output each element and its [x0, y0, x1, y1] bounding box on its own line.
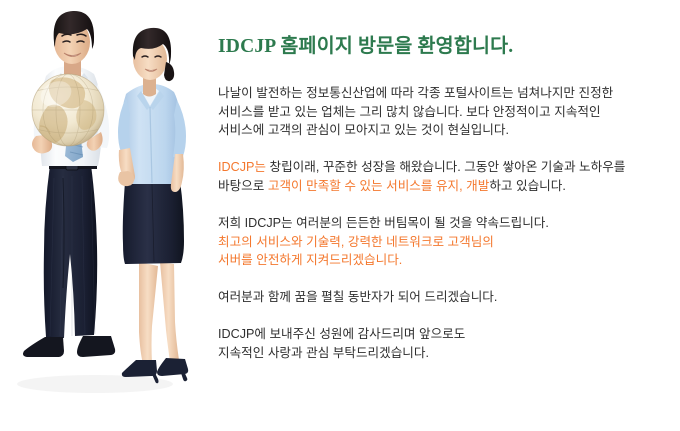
text-line: 서비스에 고객의 관심이 모아지고 있는 것이 현실입니다.: [218, 121, 678, 140]
body-text: IDCJP에 보내주신 성원에 감사드리며 앞으로도: [218, 327, 465, 341]
body-text: 바탕으로: [218, 179, 268, 193]
body-text: 여러분과 함께 꿈을 펼칠 동반자가 되어 드리겠습니다.: [218, 290, 497, 304]
text-line: 여러분과 함께 꿈을 펼칠 동반자가 되어 드리겠습니다.: [218, 288, 678, 307]
text-line: IDCJP는 창립이래, 꾸준한 성장을 해왔습니다. 그동안 쌓아온 기술과 …: [218, 158, 678, 177]
text-line: 나날이 발전하는 정보통신산업에 따라 각종 포털사이트는 넘쳐나지만 진정한: [218, 84, 678, 103]
text-line: IDCJP에 보내주신 성원에 감사드리며 앞으로도: [218, 325, 678, 344]
paragraph-3: 저희 IDCJP는 여러분의 든든한 버팀목이 될 것을 약속드립니다.최고의 …: [218, 214, 678, 270]
body-text: 지속적인 사랑과 관심 부탁드리겠습니다.: [218, 346, 429, 360]
text-line: 저희 IDCJP는 여러분의 든든한 버팀목이 될 것을 약속드립니다.: [218, 214, 678, 233]
body-text: 창립이래, 꾸준한 성장을 해왔습니다. 그동안 쌓아온 기술과 노하우를: [266, 160, 625, 174]
text-line: 지속적인 사랑과 관심 부탁드리겠습니다.: [218, 344, 678, 363]
highlighted-text: IDCJP는: [218, 160, 266, 174]
paragraph-5: IDCJP에 보내주신 성원에 감사드리며 앞으로도지속적인 사랑과 관심 부탁…: [218, 325, 678, 362]
paragraph-2: IDCJP는 창립이래, 꾸준한 성장을 해왔습니다. 그동안 쌓아온 기술과 …: [218, 158, 678, 195]
body-text: 서비스를 받고 있는 업체는 그리 많치 않습니다. 보다 안정적이고 지속적인: [218, 105, 601, 119]
highlighted-text: 서버를 안전하게 지켜드리겠습니다.: [218, 253, 402, 267]
paragraph-1: 나날이 발전하는 정보통신산업에 따라 각종 포털사이트는 넘쳐나지만 진정한서…: [218, 84, 678, 140]
welcome-content: IDCJP 홈페이지 방문을 환영합니다. 나날이 발전하는 정보통신산업에 따…: [217, 0, 680, 431]
business-couple-photo: [0, 0, 210, 431]
text-line: 서버를 안전하게 지켜드리겠습니다.: [218, 251, 678, 270]
text-line: 서비스를 받고 있는 업체는 그리 많치 않습니다. 보다 안정적이고 지속적인: [218, 103, 678, 122]
highlighted-text: 고객이 만족할 수 있는 서비스를 유지, 개발: [268, 179, 489, 193]
text-line: 최고의 서비스와 기술력, 강력한 네트워크로 고객님의: [218, 233, 678, 252]
body-text: 하고 있습니다.: [489, 179, 566, 193]
body-text: 저희 IDCJP는 여러분의 든든한 버팀목이 될 것을 약속드립니다.: [218, 216, 549, 230]
paragraph-4: 여러분과 함께 꿈을 펼칠 동반자가 되어 드리겠습니다.: [218, 288, 678, 307]
welcome-banner: IDCJP 홈페이지 방문을 환영합니다. 나날이 발전하는 정보통신산업에 따…: [0, 0, 680, 431]
text-line: 바탕으로 고객이 만족할 수 있는 서비스를 유지, 개발하고 있습니다.: [218, 177, 678, 196]
page-title: IDCJP 홈페이지 방문을 환영합니다.: [218, 29, 513, 58]
body-text: 서비스에 고객의 관심이 모아지고 있는 것이 현실입니다.: [218, 123, 509, 137]
body-text: 나날이 발전하는 정보통신산업에 따라 각종 포털사이트는 넘쳐나지만 진정한: [218, 86, 613, 100]
highlighted-text: 최고의 서비스와 기술력, 강력한 네트워크로 고객님의: [218, 235, 494, 249]
